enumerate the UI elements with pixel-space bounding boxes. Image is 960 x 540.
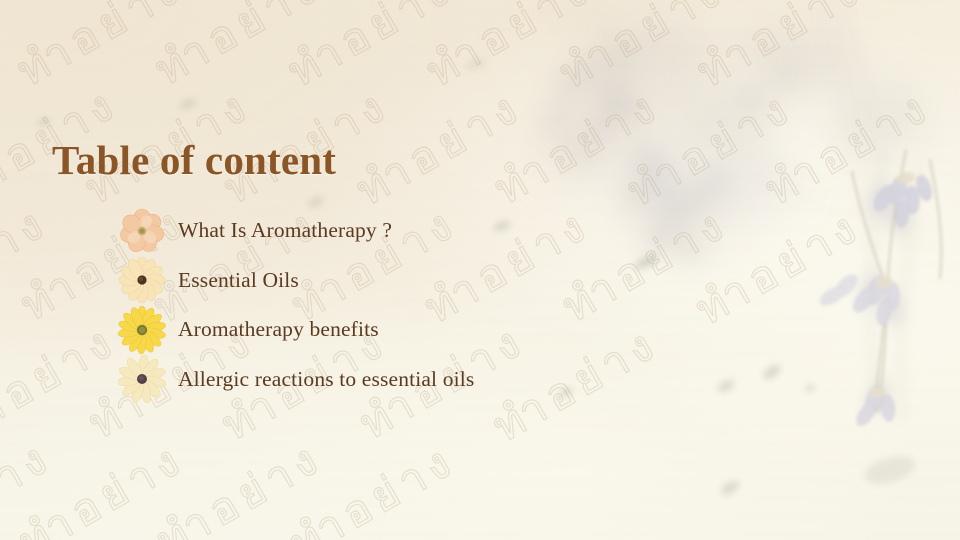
list-item[interactable]: What Is Aromatherapy ? — [118, 206, 474, 256]
flower-peach-icon — [118, 207, 166, 255]
page-title: Table of content — [52, 136, 336, 184]
flower-pale-daisy-icon — [118, 355, 166, 403]
list-item-label: Essential Oils — [178, 268, 299, 293]
table-of-contents-list: What Is Aromatherapy ? — [118, 206, 474, 404]
list-item-label: Aromatherapy benefits — [178, 317, 379, 342]
list-item[interactable]: Aromatherapy benefits — [118, 305, 474, 355]
list-item-label: Allergic reactions to essential oils — [178, 367, 474, 392]
flower-yellow-daisy-icon — [118, 306, 166, 354]
list-item-label: What Is Aromatherapy ? — [178, 218, 392, 243]
flower-cream-icon — [118, 256, 166, 304]
list-item[interactable]: Essential Oils — [118, 256, 474, 306]
slide-content: Table of content — [0, 0, 960, 540]
list-item[interactable]: Allergic reactions to essential oils — [118, 355, 474, 405]
slide-canvas: ทำอย่างทำอย่างทำอย่างทำอย่างทำอย่าง ทำอย… — [0, 0, 960, 540]
